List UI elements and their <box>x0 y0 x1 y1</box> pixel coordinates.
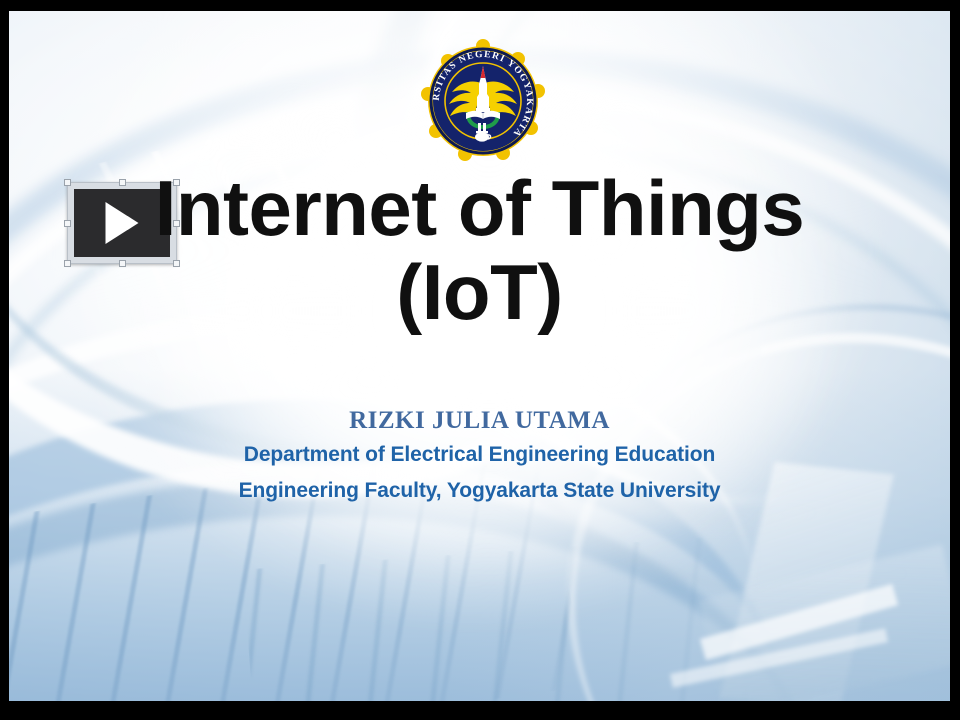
uny-logo: UNIVERSITAS NEGERI YOGYAKARTA <box>421 39 545 163</box>
title-line-1: Internet of Things <box>9 166 950 250</box>
author-name: RIZKI JULIA UTAMA <box>9 404 950 438</box>
affiliation-line-1: Department of Electrical Engineering Edu… <box>9 438 950 472</box>
slide-canvas[interactable]: UNIVERSITAS NEGERI YOGYAKARTA <box>9 11 950 701</box>
title-line-2: (IoT) <box>9 250 950 334</box>
slide-title[interactable]: Internet of Things (IoT) <box>9 166 950 334</box>
slide-subtitle[interactable]: RIZKI JULIA UTAMA Department of Electric… <box>9 404 950 508</box>
slide-frame: UNIVERSITAS NEGERI YOGYAKARTA <box>0 0 960 720</box>
affiliation-line-2: Engineering Faculty, Yogyakarta State Un… <box>9 474 950 508</box>
